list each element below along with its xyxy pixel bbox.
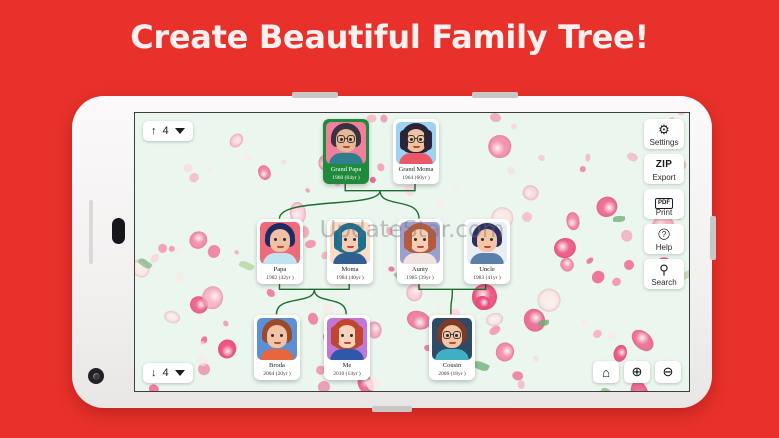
person-name: Me: [327, 362, 367, 370]
avatar-eye: [350, 334, 353, 337]
person-card-papa[interactable]: Papa1982 (42yr ): [257, 219, 303, 284]
avatar-mouth: [413, 146, 420, 148]
toolbar-item-label: Help: [646, 243, 682, 252]
toolbar-item-help[interactable]: ◯?Help: [644, 224, 684, 254]
gear-icon: ⚙: [646, 122, 682, 137]
avatar-mouth: [484, 246, 491, 248]
avatar-mouth: [347, 246, 354, 248]
avatar: [396, 122, 436, 164]
avatar-torso: [329, 153, 363, 164]
avatar-eye: [271, 334, 274, 337]
watermark: UpdateStar.com: [320, 217, 505, 243]
zoom-out-icon: ⊖: [663, 364, 674, 380]
avatar-eye: [283, 238, 286, 241]
avatar: [326, 122, 366, 164]
person-card-me[interactable]: Me2010 (14yr ): [324, 315, 370, 380]
question-icon: ◯?: [646, 227, 682, 242]
person-years: 1964 (60yr ): [396, 174, 436, 182]
avatar-torso: [470, 253, 504, 264]
pdf-icon: PDF: [646, 192, 682, 207]
avatar: [432, 318, 472, 360]
phone-volume-button: [292, 92, 338, 98]
phone-power-button: [472, 92, 518, 98]
search-icon: ⚲: [646, 262, 682, 277]
avatar-mouth: [343, 146, 350, 148]
right-toolbar: ⚙SettingsZIPExportPDFPrint◯?Help⚲Search: [644, 119, 684, 289]
person-card-grandmoma[interactable]: Grand Moma1964 (60yr ): [393, 119, 439, 184]
person-years: 1960 (64yr ): [326, 174, 366, 182]
toolbar-item-label: Print: [646, 208, 682, 217]
avatar-mouth: [344, 342, 351, 344]
avatar-face: [267, 325, 287, 348]
phone-speaker: [89, 200, 93, 264]
phone-front-camera: [112, 218, 125, 244]
person-years: 2010 (14yr ): [327, 370, 367, 378]
page-title: Create Beautiful Family Tree!: [0, 18, 779, 56]
avatar-mouth: [449, 342, 456, 344]
avatar-hair-side: [355, 326, 363, 346]
avatar-mouth: [277, 246, 284, 248]
toolbar-item-label: Export: [646, 173, 682, 182]
zoom-controls: ⌂⊕⊖: [593, 361, 681, 383]
person-years: 1984 (40yr ): [330, 274, 370, 282]
avatar-hair-side: [424, 130, 432, 150]
generations-up-selector[interactable]: ↑ 4: [143, 121, 193, 141]
chevron-down-icon: [175, 128, 185, 134]
avatar-glasses: [417, 135, 425, 143]
person-name: Grand Moma: [396, 166, 436, 174]
avatar-torso: [330, 349, 364, 360]
toolbar-item-export[interactable]: ZIPExport: [644, 154, 684, 184]
home-icon: ⌂: [602, 365, 610, 380]
avatar-torso: [403, 253, 437, 264]
avatar-torso: [260, 349, 294, 360]
toolbar-item-search[interactable]: ⚲Search: [644, 259, 684, 289]
down-arrow-icon: ↓: [151, 367, 157, 379]
up-arrow-icon: ↑: [151, 125, 157, 137]
app-screen: Grand Papa1960 (64yr )Grand Moma1964 (60…: [134, 112, 690, 392]
avatar-torso: [399, 153, 433, 164]
person-name: Aunty: [400, 266, 440, 274]
avatar: [327, 318, 367, 360]
phone-side-button: [710, 216, 716, 260]
avatar-mouth: [274, 342, 281, 344]
avatar-torso: [263, 253, 297, 264]
family-tree: Grand Papa1960 (64yr )Grand Moma1964 (60…: [135, 113, 689, 391]
avatar-glasses: [407, 135, 415, 143]
person-name: Moma: [330, 266, 370, 274]
person-card-broda[interactable]: Broda2004 (20yr ): [254, 315, 300, 380]
person-name: Broda: [257, 362, 297, 370]
toolbar-item-label: Settings: [646, 138, 682, 147]
person-years: 2006 (18yr ): [432, 370, 472, 378]
toolbar-item-print[interactable]: PDFPrint: [644, 189, 684, 219]
person-name: Papa: [260, 266, 300, 274]
home-button[interactable]: ⌂: [593, 361, 619, 383]
toolbar-item-settings[interactable]: ⚙Settings: [644, 119, 684, 149]
person-name: Uncle: [467, 266, 507, 274]
phone-mockup: Grand Papa1960 (64yr )Grand Moma1964 (60…: [72, 96, 712, 408]
avatar-glasses-bridge: [451, 334, 454, 335]
person-name: Grand Papa: [326, 166, 366, 174]
avatar-torso: [435, 349, 469, 360]
person-card-grandpapa[interactable]: Grand Papa1960 (64yr ): [323, 119, 369, 184]
avatar-glasses: [443, 331, 451, 339]
person-years: 2004 (20yr ): [257, 370, 297, 378]
avatar: [260, 222, 300, 264]
avatar-eye: [274, 238, 277, 241]
avatar-torso: [333, 253, 367, 264]
avatar-eye: [341, 334, 344, 337]
avatar-glasses: [347, 135, 355, 143]
phone-bottom-button: [372, 406, 412, 412]
avatar-glasses: [337, 135, 345, 143]
avatar-glasses-bridge: [345, 138, 348, 139]
person-card-cousin[interactable]: Cousin2006 (18yr ): [429, 315, 475, 380]
toolbar-item-label: Search: [646, 278, 682, 287]
generations-down-value: 4: [163, 367, 169, 379]
avatar-hair-side: [331, 326, 339, 346]
zip-icon: ZIP: [646, 157, 682, 172]
zoom-in-button[interactable]: ⊕: [624, 361, 650, 383]
chevron-down-icon: [175, 370, 185, 376]
avatar: [257, 318, 297, 360]
avatar-glasses: [453, 331, 461, 339]
avatar-mouth: [417, 246, 424, 248]
person-years: 1982 (42yr ): [260, 274, 300, 282]
person-name: Cousin: [432, 362, 472, 370]
zoom-out-button[interactable]: ⊖: [655, 361, 681, 383]
person-years: 1985 (39yr ): [400, 274, 440, 282]
zoom-in-icon: ⊕: [632, 364, 643, 380]
avatar-face: [337, 325, 357, 348]
person-years: 1983 (41yr ): [467, 274, 507, 282]
generations-up-value: 4: [163, 125, 169, 137]
phone-rear-camera: [88, 368, 104, 384]
avatar-face: [270, 229, 290, 252]
generations-down-selector[interactable]: ↓ 4: [143, 363, 193, 383]
avatar-glasses-bridge: [415, 138, 418, 139]
question-mark: ?: [646, 227, 682, 242]
avatar-eye: [280, 334, 283, 337]
